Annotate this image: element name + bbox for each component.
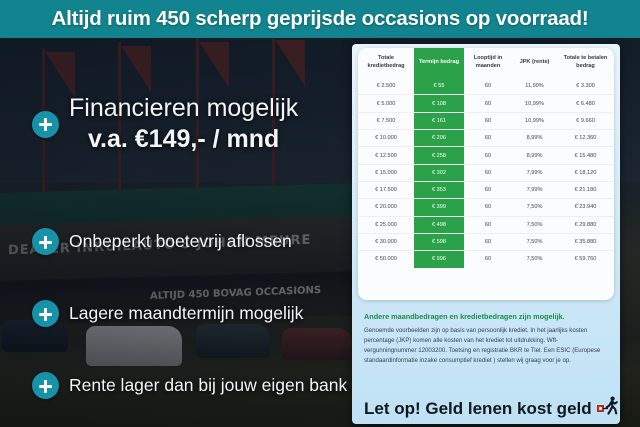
header-banner: Altijd ruim 450 scherp geprijsde occasio… [0, 0, 640, 38]
disclaimer-block: Andere maandbedragen en kredietbedragen … [364, 312, 610, 366]
legal-warning: Let op! Geld lenen kost geld [364, 396, 614, 421]
table-row: € 15.000€ 302607,99%€ 18.120 [358, 164, 614, 181]
table-cell: € 258 [414, 147, 464, 164]
disclaimer-heading: Andere maandbedragen en kredietbedragen … [364, 312, 610, 321]
running-man-warning-icon [597, 396, 619, 421]
column-header-total-payable: Totale te betalen bedrag [557, 48, 614, 78]
rate-table-body: € 2.500€ 556011,99%€ 3.300€ 5.000€ 10860… [358, 78, 614, 268]
benefit-item-penalty-free-repayment: Onbeperkt boetevrij aflossen [32, 228, 292, 255]
table-cell: € 498 [414, 216, 464, 233]
table-cell: € 206 [414, 130, 464, 147]
table-cell: 10,99% [512, 95, 557, 112]
table-cell: 7,50% [512, 251, 557, 268]
table-row: € 7.500€ 1616010,99%€ 9.660 [358, 112, 614, 129]
table-row: € 25.000€ 498607,50%€ 29.880 [358, 216, 614, 233]
table-row: € 2.500€ 556011,99%€ 3.300 [358, 78, 614, 95]
table-cell: 7,50% [512, 216, 557, 233]
table-cell: € 59.760 [557, 251, 614, 268]
plus-circle-icon [32, 372, 59, 399]
table-cell: € 20.000 [358, 199, 414, 216]
table-cell: € 598 [414, 234, 464, 251]
table-cell: 60 [464, 130, 512, 147]
table-cell: € 3.300 [557, 78, 614, 95]
table-cell: 7,50% [512, 199, 557, 216]
table-row: € 17.500€ 353607,99%€ 21.180 [358, 182, 614, 199]
table-cell: € 2.500 [358, 78, 414, 95]
table-cell: € 25.000 [358, 216, 414, 233]
table-row: € 20.000€ 399607,50%€ 23.940 [358, 199, 614, 216]
table-cell: 60 [464, 112, 512, 129]
benefit-label-line1: Financieren mogelijk [69, 94, 298, 123]
benefit-label: Rente lager dan bij jouw eigen bank [69, 375, 347, 396]
column-header-monthly-amount: Termijn bedrag [414, 48, 464, 78]
table-cell: 8,99% [512, 130, 557, 147]
table-row: € 5.000€ 1086010,99%€ 6.480 [358, 95, 614, 112]
table-cell: 60 [464, 199, 512, 216]
advertisement-banner: DEALER INRUILAUTO'S JOHAN MEURE ALTIJD 4… [0, 0, 640, 427]
table-cell: 60 [464, 95, 512, 112]
plus-circle-icon [32, 300, 59, 327]
table-header-row: Totale kredietbedrag Termijn bedrag Loop… [358, 48, 614, 78]
table-cell: € 30.000 [358, 234, 414, 251]
benefit-label: Onbeperkt boetevrij aflossen [69, 231, 292, 252]
table-cell: € 15.000 [358, 164, 414, 181]
table-cell: € 29.880 [557, 216, 614, 233]
table-cell: € 12.500 [358, 147, 414, 164]
table-cell: 11,99% [512, 78, 557, 95]
legal-warning-text: Let op! Geld lenen kost geld [364, 399, 592, 419]
table-cell: 60 [464, 234, 512, 251]
table-row: € 10.000€ 206608,99%€ 12.360 [358, 130, 614, 147]
table-row: € 50.000€ 996607,50%€ 59.760 [358, 251, 614, 268]
table-cell: 60 [464, 78, 512, 95]
table-cell: € 161 [414, 112, 464, 129]
disclaimer-body: Genoemde voorbeelden zijn op basis van p… [364, 326, 610, 366]
benefit-item-lower-monthly-term: Lagere maandtermijn mogelijk [32, 300, 303, 327]
table-cell: 60 [464, 147, 512, 164]
table-cell: 60 [464, 182, 512, 199]
table-cell: € 302 [414, 164, 464, 181]
column-header-total-credit: Totale kredietbedrag [358, 48, 414, 78]
table-cell: € 399 [414, 199, 464, 216]
table-cell: € 18.120 [557, 164, 614, 181]
table-cell: € 21.180 [557, 182, 614, 199]
table-cell: 7,50% [512, 234, 557, 251]
benefit-label-line2: v.a. €149,- / mnd [69, 125, 298, 154]
rate-table-card: Totale kredietbedrag Termijn bedrag Loop… [358, 48, 614, 300]
table-cell: € 23.940 [557, 199, 614, 216]
table-cell: € 17.500 [358, 182, 414, 199]
table-cell: € 996 [414, 251, 464, 268]
benefit-label: Lagere maandtermijn mogelijk [69, 303, 303, 324]
table-cell: 7,99% [512, 182, 557, 199]
column-header-term-months: Looptijd in maanden [464, 48, 512, 78]
table-row: € 30.000€ 598607,50%€ 35.880 [358, 234, 614, 251]
table-cell: 60 [464, 216, 512, 233]
table-cell: € 10.000 [358, 130, 414, 147]
benefits-list: Financieren mogelijk v.a. €149,- / mnd O… [0, 38, 352, 427]
table-cell: 60 [464, 164, 512, 181]
table-cell: € 7.500 [358, 112, 414, 129]
table-row: € 12.500€ 258608,99%€ 15.480 [358, 147, 614, 164]
table-cell: € 108 [414, 95, 464, 112]
table-cell: € 35.880 [557, 234, 614, 251]
header-title: Altijd ruim 450 scherp geprijsde occasio… [52, 7, 589, 31]
table-cell: € 12.360 [557, 130, 614, 147]
table-cell: 8,99% [512, 147, 557, 164]
table-cell: € 6.480 [557, 95, 614, 112]
plus-circle-icon [32, 228, 59, 255]
benefit-item-financing: Financieren mogelijk v.a. €149,- / mnd [32, 94, 298, 154]
rate-table: Totale kredietbedrag Termijn bedrag Loop… [358, 48, 614, 268]
table-cell: € 5.000 [358, 95, 414, 112]
table-cell: € 50.000 [358, 251, 414, 268]
table-cell: 60 [464, 251, 512, 268]
column-header-apr: JPK (rente) [512, 48, 557, 78]
table-cell: € 353 [414, 182, 464, 199]
table-cell: € 55 [414, 78, 464, 95]
table-cell: € 15.480 [557, 147, 614, 164]
credit-info-panel: Totale kredietbedrag Termijn bedrag Loop… [352, 44, 620, 424]
benefit-item-lower-interest: Rente lager dan bij jouw eigen bank [32, 372, 347, 399]
plus-circle-icon [32, 111, 59, 138]
table-cell: 10,99% [512, 112, 557, 129]
table-cell: 7,99% [512, 164, 557, 181]
table-cell: € 9.660 [557, 112, 614, 129]
